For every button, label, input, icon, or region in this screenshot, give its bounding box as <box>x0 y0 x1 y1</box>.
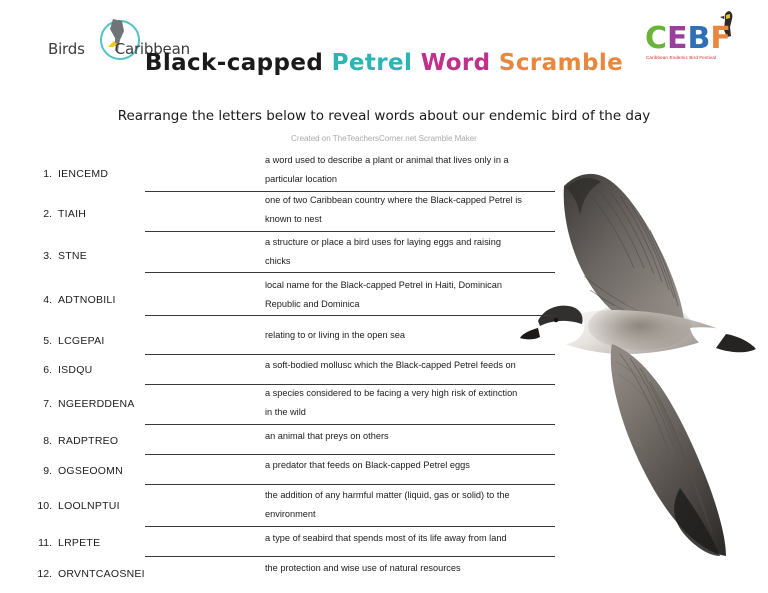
title-part-2: Petrel <box>332 50 421 76</box>
credit-text: Created on TheTeachersCorner.net Scrambl… <box>0 134 768 143</box>
scramble-row: 12.ORVNTCAOSNEIthe protection and wise u… <box>0 148 768 588</box>
instruction-text: Rearrange the letters below to reveal wo… <box>0 108 768 124</box>
title-part-1: Black-capped <box>145 50 332 76</box>
title-part-3: Word <box>421 50 499 76</box>
clue-text: the protection and wise use of natural r… <box>265 559 560 578</box>
item-number: 12. <box>26 568 52 580</box>
page-title: Black-capped Petrel Word Scramble <box>0 50 768 76</box>
clue-line: the protection and wise use of natural r… <box>265 559 560 578</box>
worksheet-page: BirdsCaribbean CEBF Caribbean Endemic Bi… <box>0 0 768 593</box>
title-part-4: Scramble <box>499 50 623 76</box>
worksheet-header: BirdsCaribbean CEBF Caribbean Endemic Bi… <box>0 0 768 96</box>
scrambled-word: ORVNTCAOSNEI <box>58 568 145 580</box>
scramble-list: 1.IENCEMDa word used to describe a plant… <box>0 148 768 588</box>
